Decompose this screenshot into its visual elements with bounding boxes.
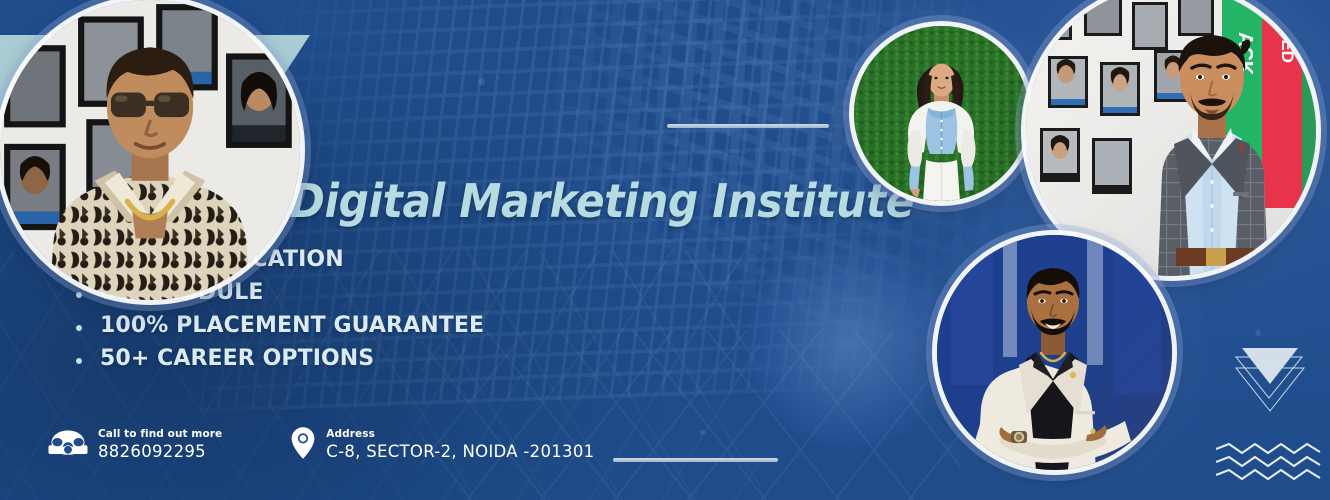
- decor-rule-top: [667, 124, 829, 128]
- phone-label: Call to find out more: [98, 428, 222, 440]
- phone-number[interactable]: 8826092295: [98, 442, 222, 462]
- telephone-icon: [48, 428, 88, 458]
- decor-rule-bottom: [613, 458, 778, 462]
- list-item: 100% PLACEMENT GUARANTEE: [72, 314, 484, 339]
- background-speck: [478, 78, 485, 85]
- list-item: 50+ CAREER OPTIONS: [72, 347, 484, 372]
- photo-woman-green-wall: [854, 26, 1029, 201]
- background-speck: [700, 430, 705, 435]
- address-value: C-8, SECTOR-2, NOIDA -201301: [326, 442, 594, 462]
- photo-man-white-blazer: [937, 235, 1172, 470]
- zigzag-waves-icon: [1216, 443, 1324, 485]
- address-label: Address: [326, 428, 375, 440]
- background-speck: [1255, 330, 1261, 336]
- marketing-banner: GURU360 TRAINING ACADEMY India's #1 Digi…: [0, 0, 1330, 500]
- contact-phone[interactable]: Call to find out more 8826092295: [48, 424, 222, 462]
- contact-address[interactable]: Address C-8, SECTOR-2, NOIDA -201301: [290, 424, 594, 462]
- photo-man-printed-shirt: [0, 0, 300, 300]
- location-pin-icon: [290, 426, 316, 460]
- nested-triangles-icon: [1224, 348, 1316, 414]
- contact-row: Call to find out more 8826092295 Address…: [48, 424, 594, 462]
